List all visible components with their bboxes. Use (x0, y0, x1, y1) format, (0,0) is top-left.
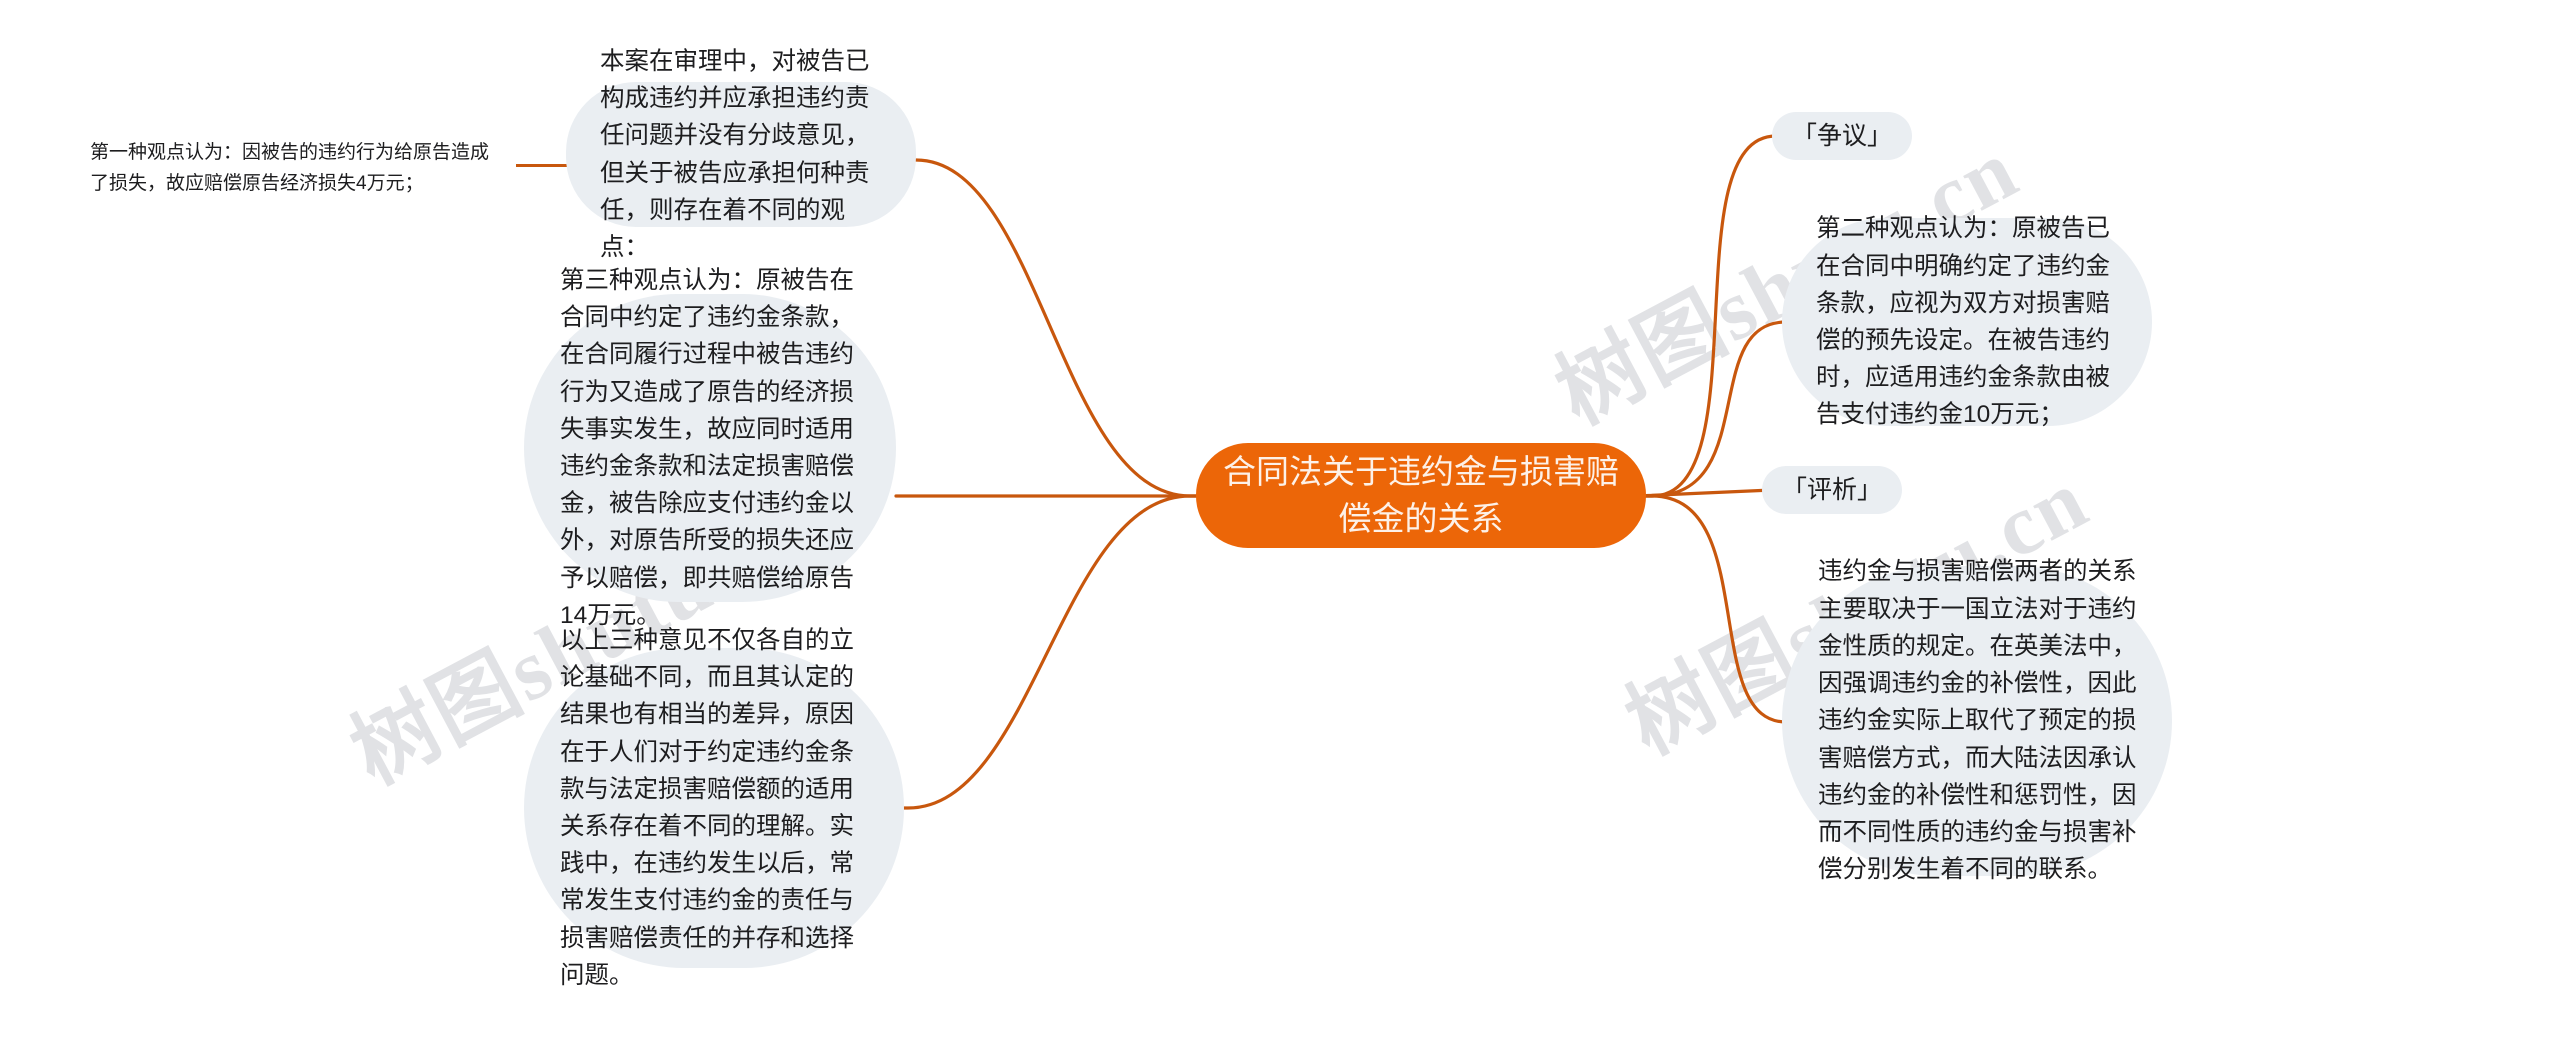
connector-to-dispute-label (1636, 136, 1790, 496)
branch-node-view3[interactable]: 第三种观点认为：原被告在合同中约定了违约金条款，在合同履行过程中被告违约行为又造… (524, 294, 896, 602)
central-node[interactable]: 合同法关于违约金与损害赔偿金的关系 (1196, 443, 1646, 548)
branch-node-analysis-label-text: 「评析」 (1782, 471, 1882, 509)
branch-node-view2-label: 第二种观点认为：原被告已在合同中明确约定了违约金条款，应视为双方对损害赔偿的预先… (1816, 210, 2122, 433)
branch-node-analysis-body-label: 违约金与损害赔偿两者的关系主要取决于一国立法对于违约金性质的规定。在英美法中，因… (1818, 553, 2144, 888)
connector-to-analysis-label (1636, 490, 1772, 496)
branch-node-dispute-intro-label: 本案在审理中，对被告已构成违约并应承担违约责任问题并没有分歧意见，但关于被告应承… (600, 43, 886, 266)
branch-node-view2[interactable]: 第二种观点认为：原被告已在合同中明确约定了违约金条款，应视为双方对损害赔偿的预先… (1782, 218, 2152, 426)
branch-node-analysis-label[interactable]: 「评析」 (1762, 466, 1902, 514)
branch-node-summary-label: 以上三种意见不仅各自的立论基础不同，而且其认定的结果也有相当的差异，原因在于人们… (560, 622, 878, 994)
branch-node-view1-label: 第一种观点认为：因被告的违约行为给原告造成了损失，故应赔偿原告经济损失4万元； (90, 142, 489, 194)
branch-node-view3-label: 第三种观点认为：原被告在合同中约定了违约金条款，在合同履行过程中被告违约行为又造… (560, 262, 868, 634)
central-node-title: 合同法关于违约金与损害赔偿金的关系 (1222, 449, 1620, 543)
branch-node-view1[interactable]: 第一种观点认为：因被告的违约行为给原告造成了损失，故应赔偿原告经济损失4万元； (90, 138, 502, 200)
connector-to-summary (890, 496, 1206, 808)
connector-to-analysis-body (1636, 496, 1800, 722)
branch-node-dispute-intro[interactable]: 本案在审理中，对被告已构成违约并应承担违约责任问题并没有分歧意见，但关于被告应承… (566, 82, 916, 227)
branch-node-analysis-body[interactable]: 违约金与损害赔偿两者的关系主要取决于一国立法对于违约金性质的规定。在英美法中，因… (1782, 566, 2172, 876)
branch-node-dispute-label[interactable]: 「争议」 (1772, 112, 1912, 160)
connector-to-dispute-intro (900, 160, 1206, 496)
mindmap-canvas: 树图shutu.cn 树图shutu.cn 树图shutu.cn 合同法关于违约… (0, 0, 2560, 1048)
connector-stub-view1 (516, 164, 568, 167)
branch-node-summary[interactable]: 以上三种意见不仅各自的立论基础不同，而且其认定的结果也有相当的差异，原因在于人们… (524, 648, 904, 968)
branch-node-dispute-label-text: 「争议」 (1792, 117, 1892, 155)
